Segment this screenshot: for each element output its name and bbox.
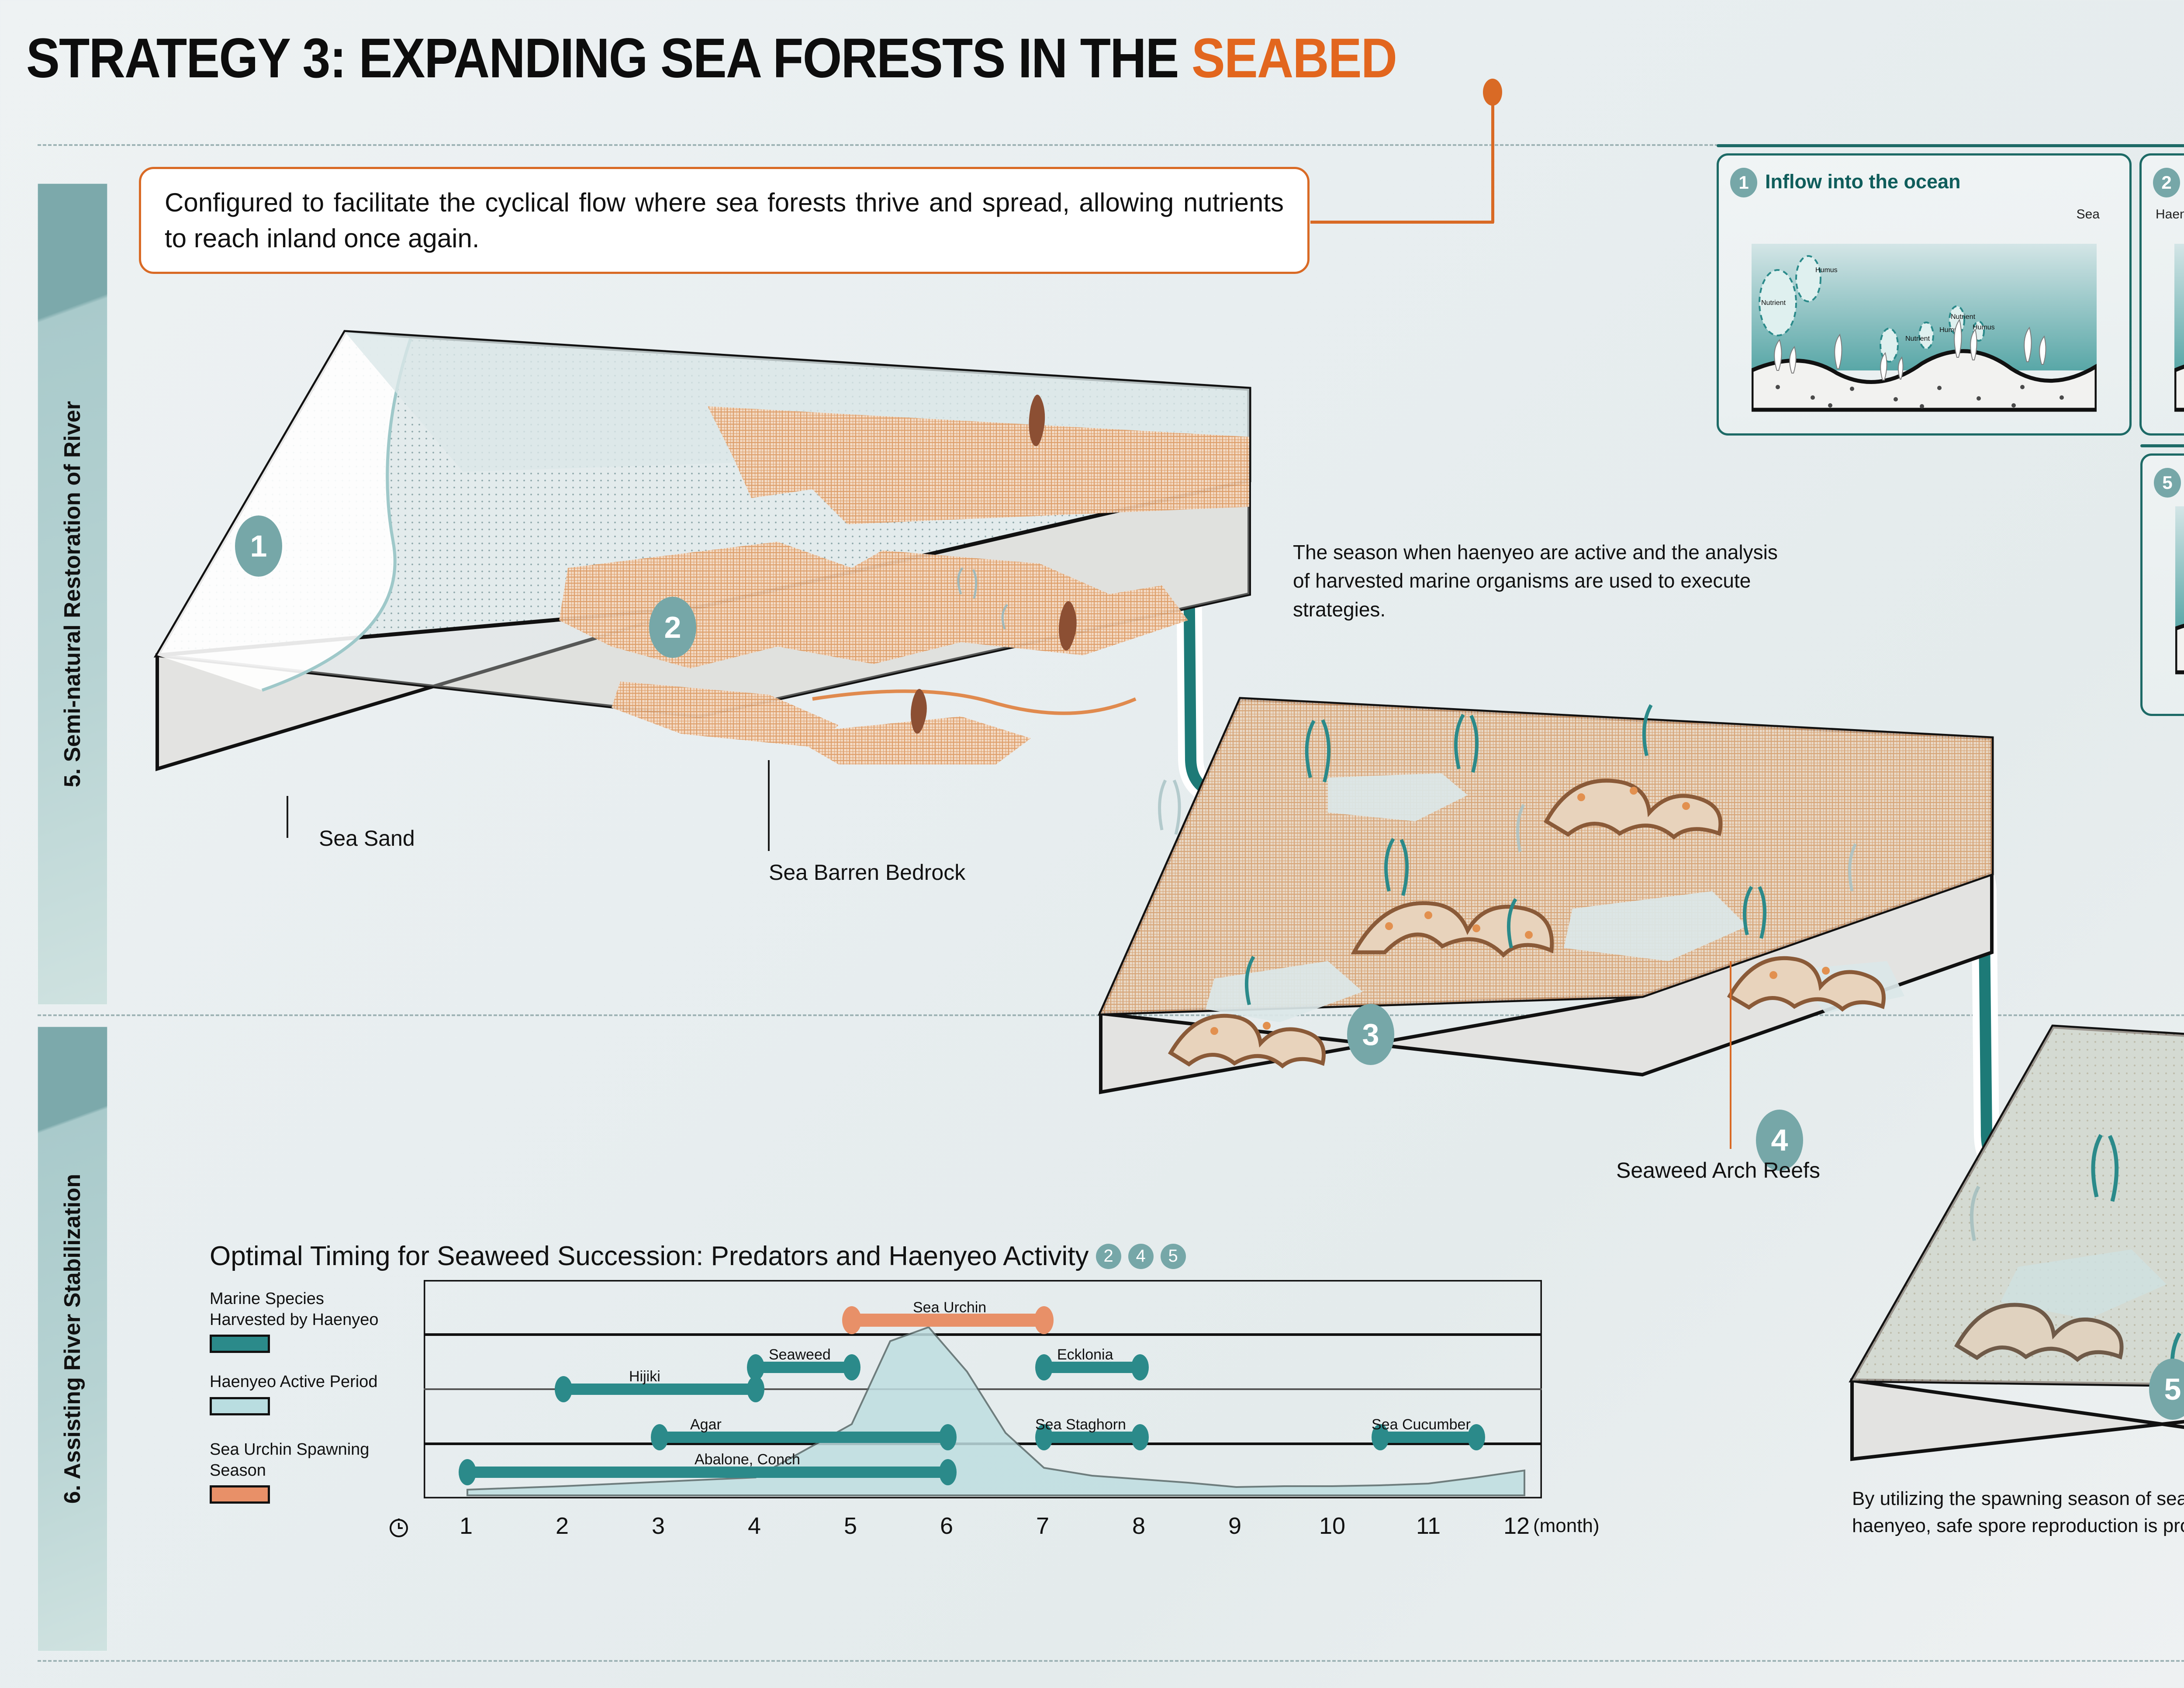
card-row-rule-mid — [2140, 444, 2184, 447]
chart-x-axis-clock-icon — [389, 1516, 409, 1539]
legend-swatch-spawning — [210, 1485, 270, 1504]
chart-legend-spawning: Sea Urchin Spawning Season — [210, 1439, 393, 1504]
section-band-6-label: 6. Assisting River Stabilization — [59, 1174, 86, 1504]
divider-bottom — [38, 1660, 2184, 1662]
chart-title-text: Optimal Timing for Seaweed Succession: P… — [210, 1241, 1089, 1272]
card-2-scene-haenyeo — [2174, 226, 2184, 423]
process-card-1[interactable]: 1 Inflow into the ocean Sea — [1717, 153, 2132, 436]
block-marker-2: 2 — [649, 597, 696, 658]
block-marker-4-label: 4 — [1771, 1123, 1788, 1158]
card-1-title: Inflow into the ocean — [1765, 168, 1961, 193]
span-label-sea-cucumber: Sea Cucumber — [1372, 1416, 1471, 1433]
chart-badge-4: 4 — [1128, 1244, 1154, 1269]
card-2-badge: 2 — [2153, 168, 2180, 197]
x-axis-unit: (month) — [1533, 1515, 1600, 1537]
x-tick-9: 9 — [1228, 1512, 1241, 1539]
card-row-1: 1 Inflow into the ocean Sea — [1717, 153, 2184, 436]
card-1-scene-inflow: HumusNutrient NutrientHumus NutrientHumu… — [1752, 226, 2097, 423]
span-label-agar: Agar — [690, 1416, 722, 1433]
label-seaweed-arch-reefs: Seaweed Arch Reefs — [1616, 1158, 1820, 1183]
timing-chart: Optimal Timing for Seaweed Succession: P… — [210, 1241, 1642, 1272]
x-tick-7: 7 — [1036, 1512, 1049, 1539]
span-bar-hijiki: Hijiki — [555, 1368, 764, 1402]
page-title-main: STRATEGY 3: EXPANDING SEA FORESTS IN THE — [26, 27, 1192, 90]
x-tick-3: 3 — [652, 1512, 665, 1539]
chart-plot-area: Sea Urchin Seaweed Ecklonia Hijiki — [424, 1280, 1542, 1498]
card-row-rule-top — [1717, 144, 2184, 147]
label-sea-sand: Sea Sand — [319, 826, 415, 851]
svg-text:Nutrient: Nutrient — [1951, 313, 1976, 321]
card-2-caption-haenyeo: Haenyeo — [2156, 207, 2184, 222]
x-tick-10: 10 — [1319, 1512, 1345, 1539]
card-1-caption-sea: Sea — [1733, 207, 2100, 222]
svg-text:Nutrient: Nutrient — [1761, 299, 1786, 307]
card-5-badge: 5 — [2154, 468, 2181, 498]
section-band-5-label: 5. Semi-natural Restoration of River — [59, 401, 86, 787]
x-tick-4: 4 — [748, 1512, 761, 1539]
section-band-6: 6. Assisting River Stabilization — [38, 1027, 107, 1651]
process-card-5[interactable]: 5 Beginning of seaweed succession — [2140, 453, 2184, 716]
x-tick-5: 5 — [844, 1512, 857, 1539]
leader-sea-sand — [287, 796, 288, 838]
card-1-head: 1 Inflow into the ocean — [1730, 168, 2118, 197]
card-2-head: 2 Activities of haenyeo — [2153, 168, 2184, 197]
block-marker-2-label: 2 — [664, 610, 681, 645]
chart-badge-5: 5 — [1161, 1244, 1186, 1269]
x-tick-2: 2 — [556, 1512, 569, 1539]
leader-sea-barren-bedrock — [768, 760, 770, 851]
span-label-abalone-conch: Abalone, Conch — [695, 1451, 800, 1468]
page-title-accent: SEABED — [1192, 27, 1396, 90]
block-marker-3: 3 — [1347, 1004, 1394, 1065]
callout-stem — [1310, 221, 1494, 224]
label-sea-barren-bedrock: Sea Barren Bedrock — [769, 860, 965, 885]
span-label-sea-staghorn: Sea Staghorn — [1035, 1416, 1126, 1433]
callout-text: Configured to facilitate the cyclical fl… — [165, 188, 1284, 253]
span-bar-sea-staghorn: Sea Staghorn — [1035, 1416, 1149, 1450]
block-marker-1: 1 — [235, 515, 282, 577]
span-label-sea-urchin: Sea Urchin — [913, 1299, 986, 1316]
block-marker-5-label: 5 — [2164, 1372, 2181, 1407]
card-1-badge: 1 — [1730, 168, 1757, 197]
block-marker-1-label: 1 — [250, 529, 267, 564]
page-title: STRATEGY 3: EXPANDING SEA FORESTS IN THE… — [26, 26, 1396, 90]
chart-title-row: Optimal Timing for Seaweed Succession: P… — [210, 1241, 1642, 1272]
process-card-2[interactable]: 2 Activities of haenyeo Haenyeo — [2139, 153, 2184, 436]
note-haenyeo-season: The season when haenyeo are active and t… — [1293, 538, 1782, 624]
chart-badge-2: 2 — [1096, 1244, 1121, 1269]
diagram-block-sea-forest: 5 6 — [1826, 961, 2184, 1573]
callout-dot-icon — [1483, 79, 1502, 106]
legend-swatch-active — [210, 1397, 270, 1415]
card-5-scene-succession — [2175, 502, 2184, 685]
svg-text:Humus: Humus — [1973, 324, 1995, 331]
process-card-grid: 1 Inflow into the ocean Sea — [1717, 144, 2184, 725]
span-label-seaweed: Seaweed — [769, 1346, 831, 1363]
span-bar-ecklonia: Ecklonia — [1035, 1346, 1149, 1380]
block-marker-3-label: 3 — [1362, 1017, 1379, 1052]
section-band-5: 5. Semi-natural Restoration of River — [38, 183, 107, 1005]
span-label-hijiki: Hijiki — [629, 1368, 660, 1385]
span-label-ecklonia: Ecklonia — [1057, 1346, 1113, 1363]
infographic-canvas: STRATEGY 3: EXPANDING SEA FORESTS IN THE… — [0, 0, 2184, 1688]
legend-label-harvested: Marine Species Harvested by Haenyeo — [210, 1289, 393, 1330]
bottom-explanatory-note: By utilizing the spawning season of sea … — [1852, 1485, 2184, 1540]
svg-text:Humus: Humus — [1815, 266, 1838, 274]
card-5-head: 5 Beginning of seaweed succession — [2154, 468, 2184, 498]
legend-label-spawning: Sea Urchin Spawning Season — [210, 1439, 393, 1481]
legend-label-active: Haenyeo Active Period — [210, 1372, 393, 1393]
legend-swatch-harvested — [210, 1335, 270, 1353]
x-tick-12: 12 — [1503, 1512, 1530, 1539]
x-tick-11: 11 — [1416, 1512, 1441, 1539]
x-tick-6: 6 — [940, 1512, 953, 1539]
chart-legend-active: Haenyeo Active Period — [210, 1372, 393, 1415]
callout-riser — [1491, 90, 1494, 223]
leader-seaweed-arch-reefs — [1730, 961, 1731, 1149]
span-bar-sea-urchin: Sea Urchin — [842, 1299, 1054, 1334]
x-tick-8: 8 — [1132, 1512, 1145, 1539]
span-bar-sea-cucumber: Sea Cucumber — [1372, 1416, 1485, 1450]
svg-text:Nutrient: Nutrient — [1905, 335, 1930, 342]
callout-box: Configured to facilitate the cyclical fl… — [139, 167, 1310, 274]
span-bar-seaweed: Seaweed — [747, 1346, 860, 1380]
chart-legend-harvested: Marine Species Harvested by Haenyeo — [210, 1289, 393, 1353]
card-row-2: 5 Beginning of seaweed succession — [2140, 453, 2184, 716]
x-tick-1: 1 — [460, 1512, 473, 1539]
